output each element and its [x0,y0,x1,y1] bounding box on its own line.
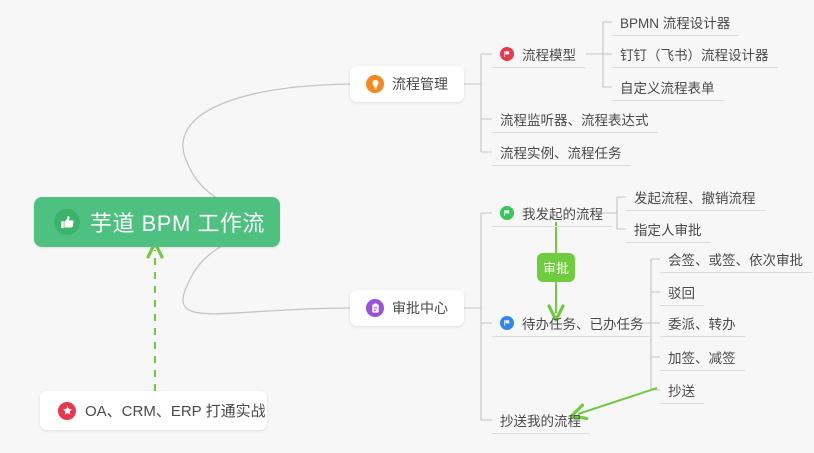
node-todo-done-tasks[interactable]: 待办任务、已办任务 [492,310,653,337]
node-process-instance-task[interactable]: 流程实例、流程任务 [492,139,631,166]
node-carbon-copy[interactable]: 抄送 [660,377,704,404]
node-bpmn-designer-label: BPMN 流程设计器 [620,12,730,32]
annotation-tag-approval-label: 审批 [543,258,569,277]
node-assignee-approval[interactable]: 指定人审批 [626,216,711,243]
node-cc-my-processes-label: 抄送我的流程 [500,410,581,430]
node-process-listener-expression-label: 流程监听器、流程表达式 [500,109,649,129]
edge-root-to-process-management [183,84,350,212]
star-icon [58,402,76,420]
node-reject[interactable]: 驳回 [660,279,704,306]
node-add-remove-sign[interactable]: 加签、减签 [660,344,745,371]
lightbulb-icon [366,75,384,93]
node-my-started-processes-label: 我发起的流程 [522,203,603,223]
root-node[interactable]: 芋道 BPM 工作流 [34,197,280,247]
callout-integration-practice-label: OA、CRM、ERP 打通实战 [85,400,266,421]
node-process-listener-expression[interactable]: 流程监听器、流程表达式 [492,106,658,133]
edge-process-model-trunk [586,22,612,87]
edge-approval-center-trunk [464,213,492,420]
node-dingtalk-feishu-designer-label: 钉钉（飞书）流程设计器 [620,44,769,64]
flag-icon [500,316,514,330]
thumbs-up-icon [54,209,80,235]
branch-process-management-label: 流程管理 [392,74,448,94]
branch-process-management[interactable]: 流程管理 [350,66,464,102]
node-start-cancel-process-label: 发起流程、撤销流程 [634,187,756,207]
node-carbon-copy-label: 抄送 [668,380,695,400]
node-start-cancel-process[interactable]: 发起流程、撤销流程 [626,184,765,211]
branch-approval-center[interactable]: 审批中心 [350,290,464,326]
node-delegate-transfer-label: 委派、转办 [668,313,736,333]
edge-process-management-trunk [464,54,492,152]
node-countersign-orsign-sequential-label: 会签、或签、依次审批 [668,249,803,269]
node-dingtalk-feishu-designer[interactable]: 钉钉（飞书）流程设计器 [612,41,778,68]
node-process-model[interactable]: 流程模型 [492,41,585,68]
node-bpmn-designer[interactable]: BPMN 流程设计器 [612,9,739,36]
node-my-started-processes[interactable]: 我发起的流程 [492,200,612,227]
annotation-tag-approval: 审批 [537,253,575,282]
node-custom-process-form[interactable]: 自定义流程表单 [612,74,724,101]
node-add-remove-sign-label: 加签、减签 [668,347,736,367]
flag-icon [500,206,514,220]
root-label: 芋道 BPM 工作流 [90,206,265,238]
mindmap-canvas: 芋道 BPM 工作流 流程管理 审批中心 [0,0,814,453]
node-cc-my-processes[interactable]: 抄送我的流程 [492,407,590,434]
node-reject-label: 驳回 [668,282,695,302]
node-todo-done-tasks-label: 待办任务、已办任务 [522,313,644,333]
callout-integration-practice[interactable]: OA、CRM、ERP 打通实战 [40,391,267,430]
node-custom-process-form-label: 自定义流程表单 [620,77,715,97]
node-countersign-orsign-sequential[interactable]: 会签、或签、依次审批 [660,246,812,273]
branch-approval-center-label: 审批中心 [392,298,448,318]
node-process-instance-task-label: 流程实例、流程任务 [500,142,622,162]
node-delegate-transfer[interactable]: 委派、转办 [660,310,745,337]
node-assignee-approval-label: 指定人审批 [634,219,702,239]
node-process-model-label: 流程模型 [522,44,576,64]
flag-icon [500,47,514,61]
clipboard-icon [366,299,384,317]
